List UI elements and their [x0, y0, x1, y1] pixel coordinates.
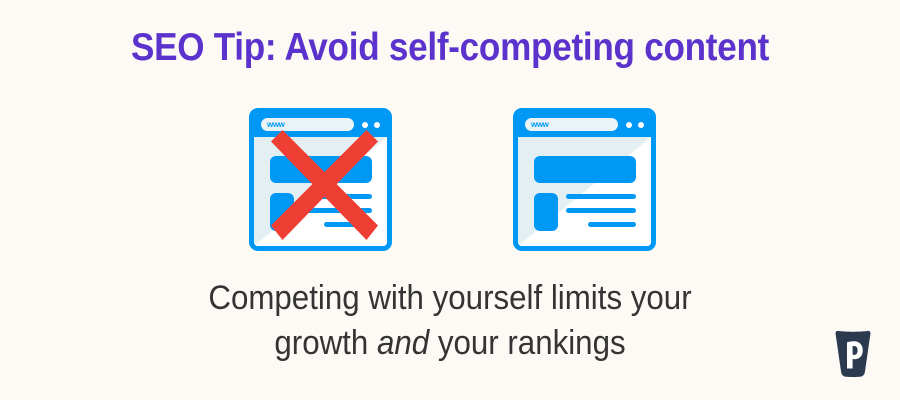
content-text-line-right-3 [588, 222, 636, 227]
window-dot-icon-right-2 [638, 122, 644, 128]
address-bar-right: www [525, 118, 618, 131]
content-banner-block-right [534, 156, 636, 183]
browser-body-right [518, 137, 651, 246]
subtitle: Competing with yourself limits your grow… [36, 276, 864, 366]
browser-header-bar-left: www [254, 113, 387, 137]
subtitle-line-1: Competing with yourself limits your [36, 276, 864, 321]
content-text-line-right-1 [566, 194, 636, 199]
subtitle-line-2-emphasis: and [377, 324, 429, 362]
subtitle-line-2: growth and your rankings [36, 321, 864, 366]
window-dot-icon-left-2 [374, 122, 380, 128]
content-text-line-left-2 [302, 208, 372, 213]
infographic-canvas: SEO Tip: Avoid self-competing content ww… [0, 0, 900, 400]
content-banner-block-left [270, 156, 372, 183]
content-text-line-left-3 [324, 222, 372, 227]
address-bar-label-left: www [267, 119, 284, 130]
brand-logo-icon [833, 330, 873, 377]
content-thumbnail-block-right [534, 193, 558, 231]
page-title: SEO Tip: Avoid self-competing content [45, 26, 855, 70]
browser-mockup-right: www [513, 108, 656, 251]
window-dot-icon-left-1 [362, 122, 368, 128]
content-text-line-right-2 [566, 208, 636, 213]
window-dot-icon-right-1 [626, 122, 632, 128]
subtitle-line-2-after: your rankings [429, 324, 625, 362]
subtitle-line-2-before: growth [274, 324, 377, 362]
browser-mockup-left: www [249, 108, 392, 251]
address-bar-label-right: www [531, 119, 548, 130]
content-thumbnail-block-left [270, 193, 294, 231]
browser-body-left [254, 137, 387, 246]
content-text-line-left-1 [302, 194, 372, 199]
address-bar-left: www [261, 118, 354, 131]
browser-header-bar-right: www [518, 113, 651, 137]
